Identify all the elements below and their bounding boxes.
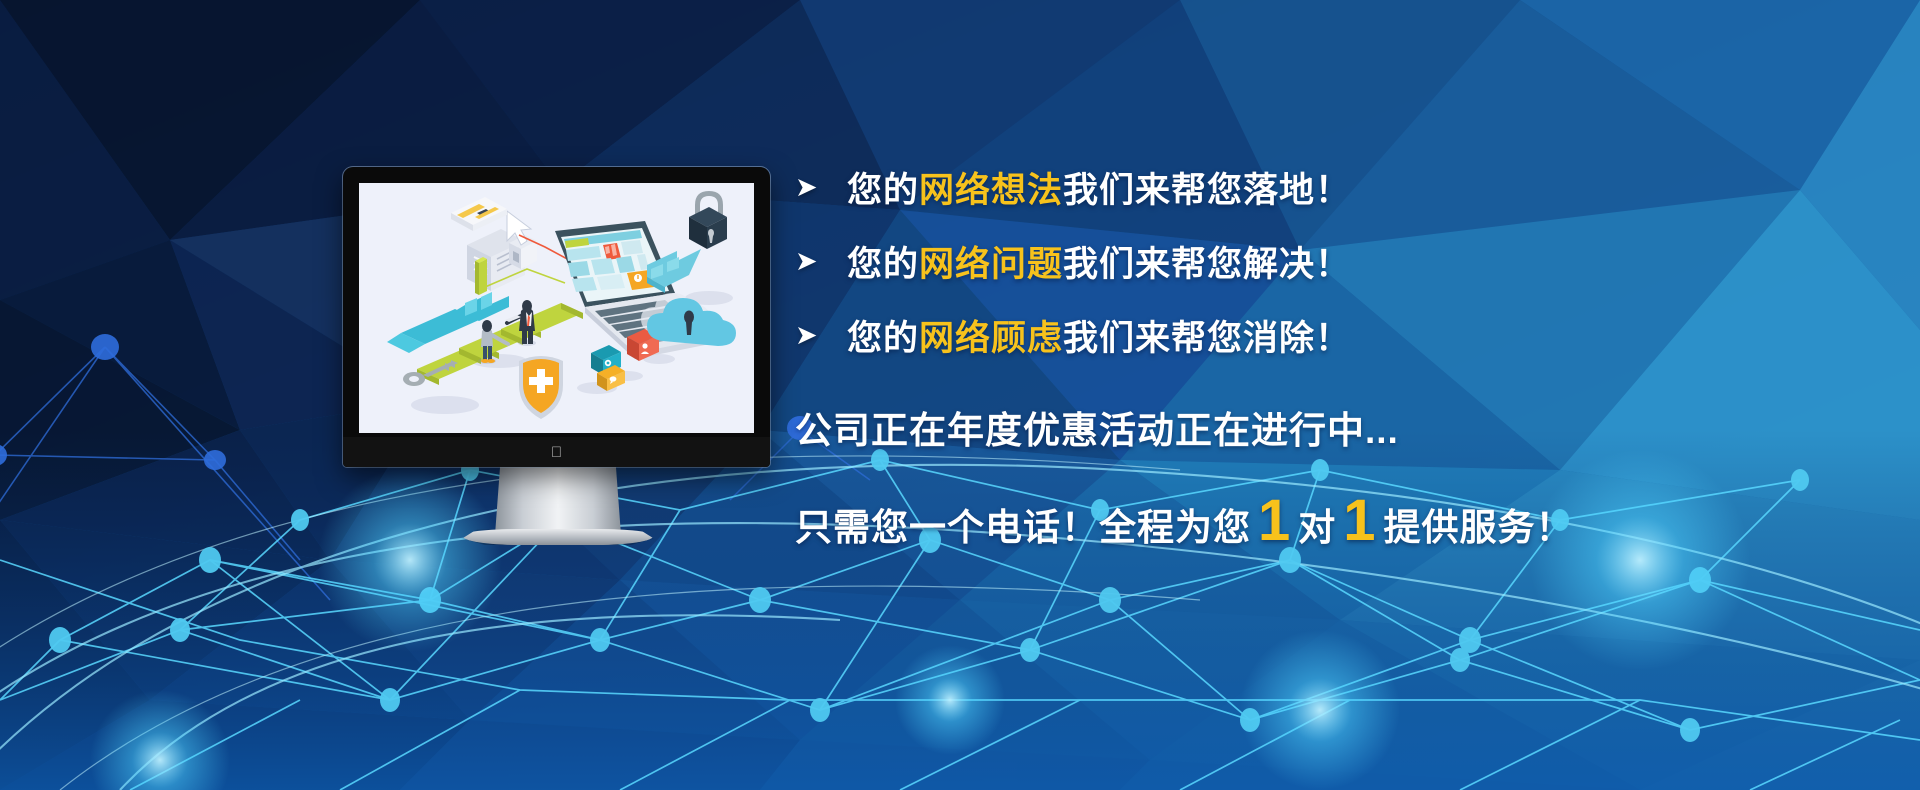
imac-monitor:  <box>330 155 790 485</box>
bullet-3-prefix: 您的 <box>847 319 919 358</box>
bullet-3-highlight: 网络顾虑 <box>919 319 1063 358</box>
monitor-frame:  <box>343 167 770 467</box>
cta-part-1: 只需您一个电话！全程为您 <box>795 497 1251 551</box>
marketing-copy: ➤ 您的网络想法我们来帮您落地！ ➤ 您的网络问题我们来帮您解决！ ➤ 您的网络… <box>795 150 1795 551</box>
bullet-text-1: 您的网络想法我们来帮您落地！ <box>847 162 1351 213</box>
monitor-neck <box>495 467 621 535</box>
cta-headline: 只需您一个电话！全程为您 1 对 1 提供服务！ <box>795 492 1795 551</box>
cta-middle: 对 <box>1298 497 1336 551</box>
arrow-bullet-icon: ➤ <box>795 174 847 201</box>
monitor-chin:  <box>343 437 770 467</box>
isometric-network-security-illustration <box>359 183 754 433</box>
hero-banner:  ➤ 您的网络想法我们来帮您落地！ ➤ 您的网络问题我们来帮您解决！ ➤ 您的… <box>0 0 1920 790</box>
bullet-item-1: ➤ 您的网络想法我们来帮您落地！ <box>795 150 1795 224</box>
promo-headline: 公司正在年度优惠活动正在进行中... <box>795 400 1795 454</box>
bullet-text-3: 您的网络顾虑我们来帮您消除！ <box>847 310 1351 361</box>
bullet-2-prefix: 您的 <box>847 245 919 284</box>
bullet-1-highlight: 网络想法 <box>919 171 1063 210</box>
arrow-bullet-icon: ➤ <box>795 248 847 275</box>
bullet-3-suffix: 我们来帮您消除！ <box>1063 319 1351 358</box>
bullet-2-suffix: 我们来帮您解决！ <box>1063 245 1351 284</box>
bullet-2-highlight: 网络问题 <box>919 245 1063 284</box>
monitor-screen <box>359 183 754 433</box>
cta-part-2: 提供服务！ <box>1384 497 1574 551</box>
bullet-1-suffix: 我们来帮您落地！ <box>1063 171 1351 210</box>
bullet-text-2: 您的网络问题我们来帮您解决！ <box>847 236 1351 287</box>
arrow-bullet-icon: ➤ <box>795 322 847 349</box>
bullet-item-2: ➤ 您的网络问题我们来帮您解决！ <box>795 224 1795 298</box>
apple-logo-icon:  <box>551 445 562 460</box>
monitor-base <box>462 529 654 545</box>
cta-number-one-second: 1 <box>1336 492 1383 550</box>
cta-number-one-first: 1 <box>1251 492 1298 550</box>
bullet-1-prefix: 您的 <box>847 171 919 210</box>
bullet-item-3: ➤ 您的网络顾虑我们来帮您消除！ <box>795 298 1795 372</box>
